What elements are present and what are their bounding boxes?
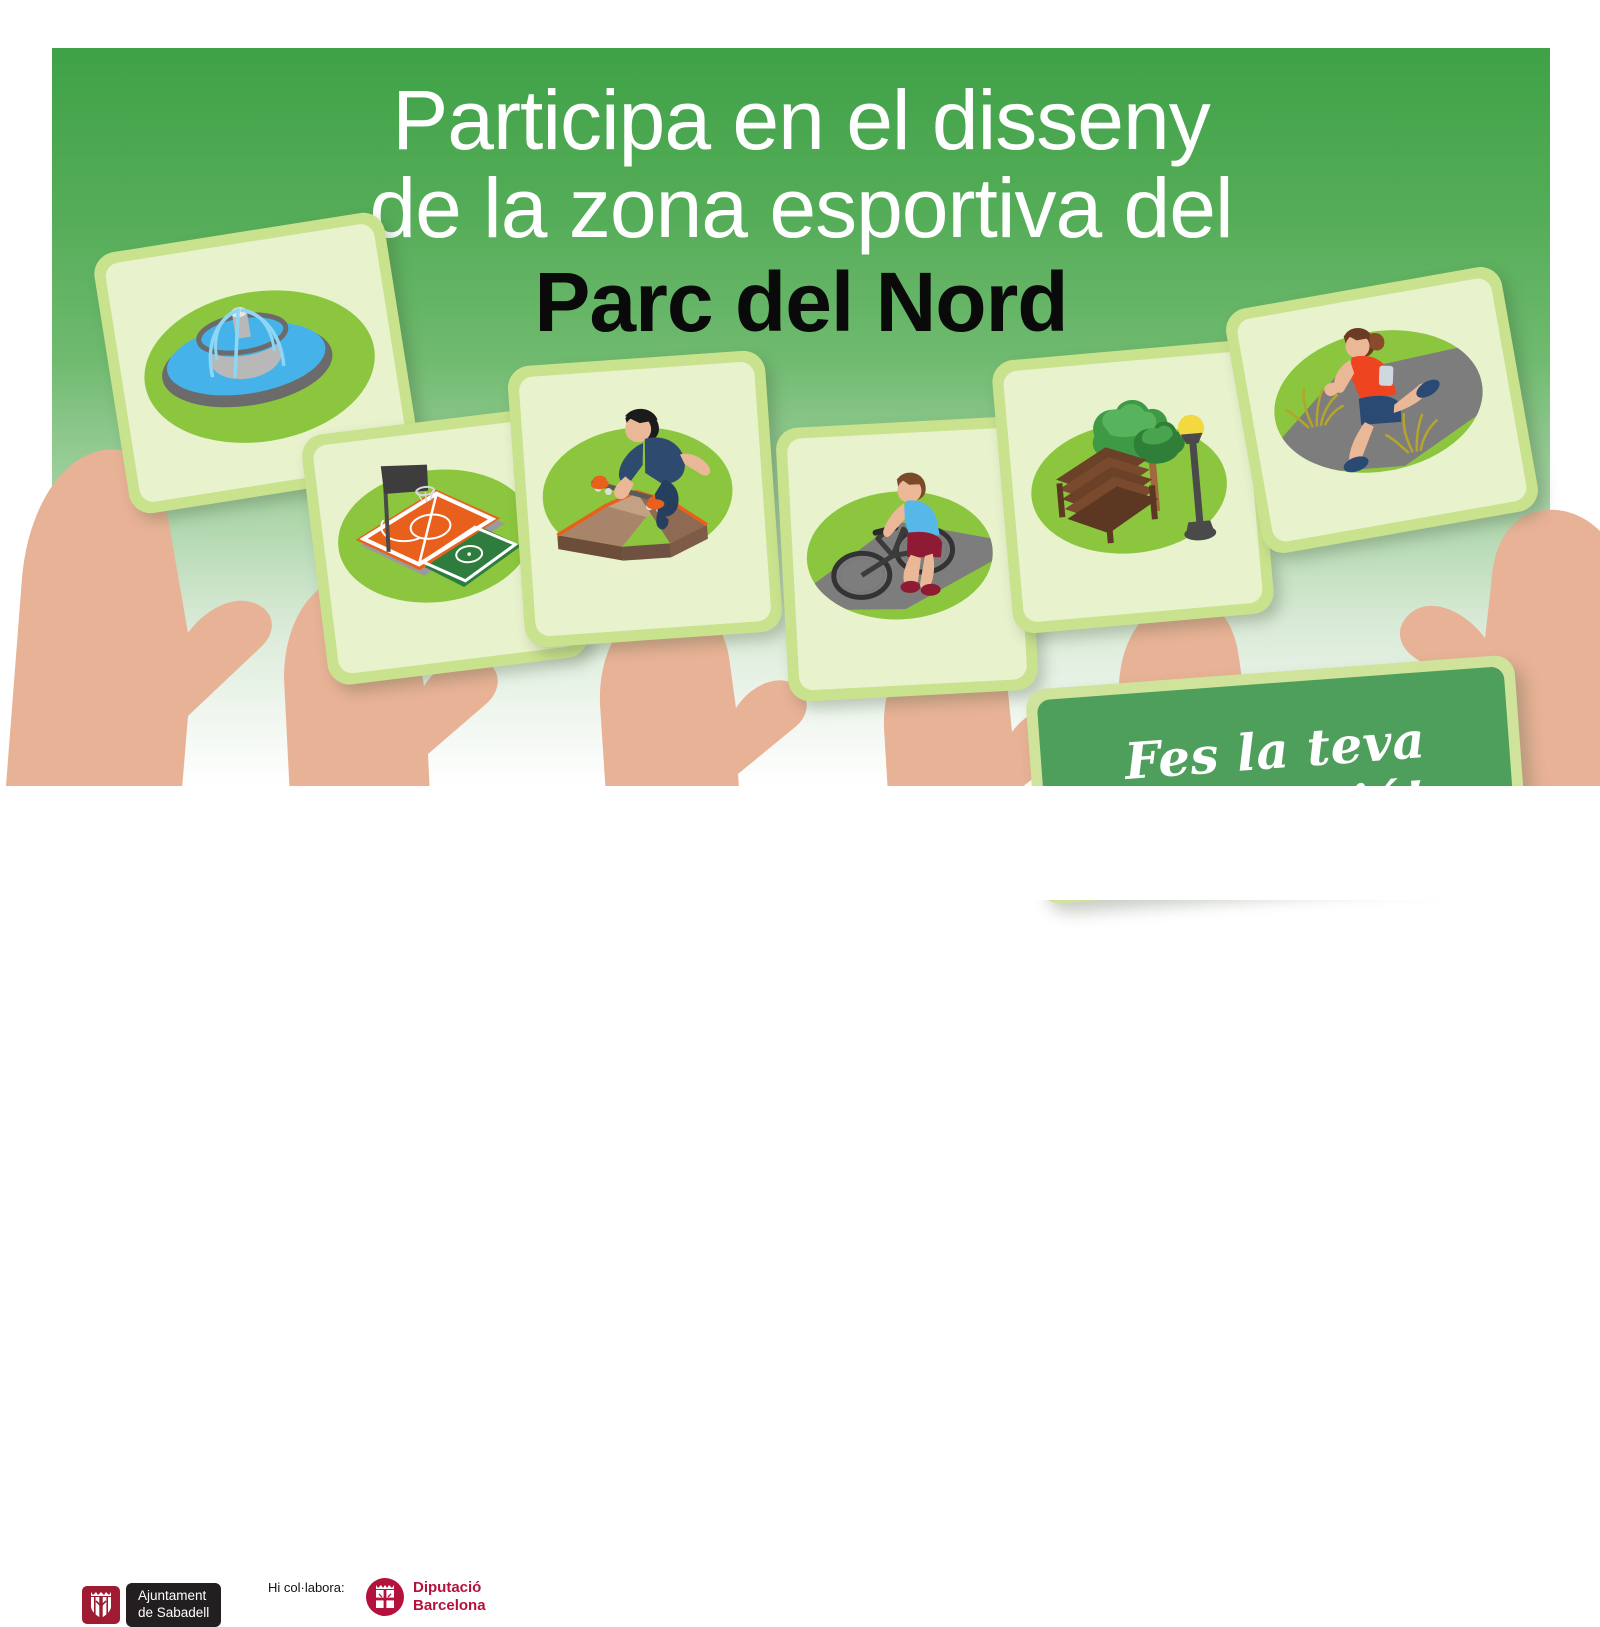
headline-line-1: Participa en el disseny — [52, 78, 1550, 162]
collaborate-label: Hi col·labora: — [268, 1580, 345, 1595]
poster-canvas: Participa en el disseny de la zona espor… — [0, 0, 1600, 900]
park-bench-icon — [1002, 353, 1241, 601]
logo-diputacio-barcelona[interactable]: Diputació Barcelona — [366, 1578, 486, 1616]
sabadell-crest-icon — [82, 1586, 120, 1624]
card-bench-face — [1002, 351, 1263, 623]
footer: Ajuntament de Sabadell Hi col·labora: Di… — [0, 786, 1600, 900]
diputacio-label: Diputació Barcelona — [413, 1579, 486, 1615]
runner-icon — [1235, 280, 1503, 524]
card-runner-face — [1235, 276, 1528, 543]
diputacio-line-1: Diputació — [413, 1579, 486, 1597]
card-skate-face — [518, 361, 772, 637]
card-skate-ramp[interactable] — [506, 349, 783, 648]
card-bench-tree[interactable] — [991, 339, 1276, 635]
ajuntament-line-2: de Sabadell — [138, 1605, 209, 1622]
card-running-track[interactable] — [1223, 264, 1542, 557]
diputacio-crest-icon — [366, 1578, 404, 1616]
cyclist-icon — [787, 428, 1007, 669]
diputacio-line-2: Barcelona — [413, 1597, 486, 1615]
ajuntament-line-1: Ajuntament — [138, 1588, 209, 1605]
card-bike-face — [787, 427, 1028, 691]
logo-ajuntament-sabadell[interactable]: Ajuntament de Sabadell — [82, 1583, 221, 1627]
skateboarder-icon — [518, 362, 750, 616]
ajuntament-label-box: Ajuntament de Sabadell — [126, 1583, 221, 1627]
